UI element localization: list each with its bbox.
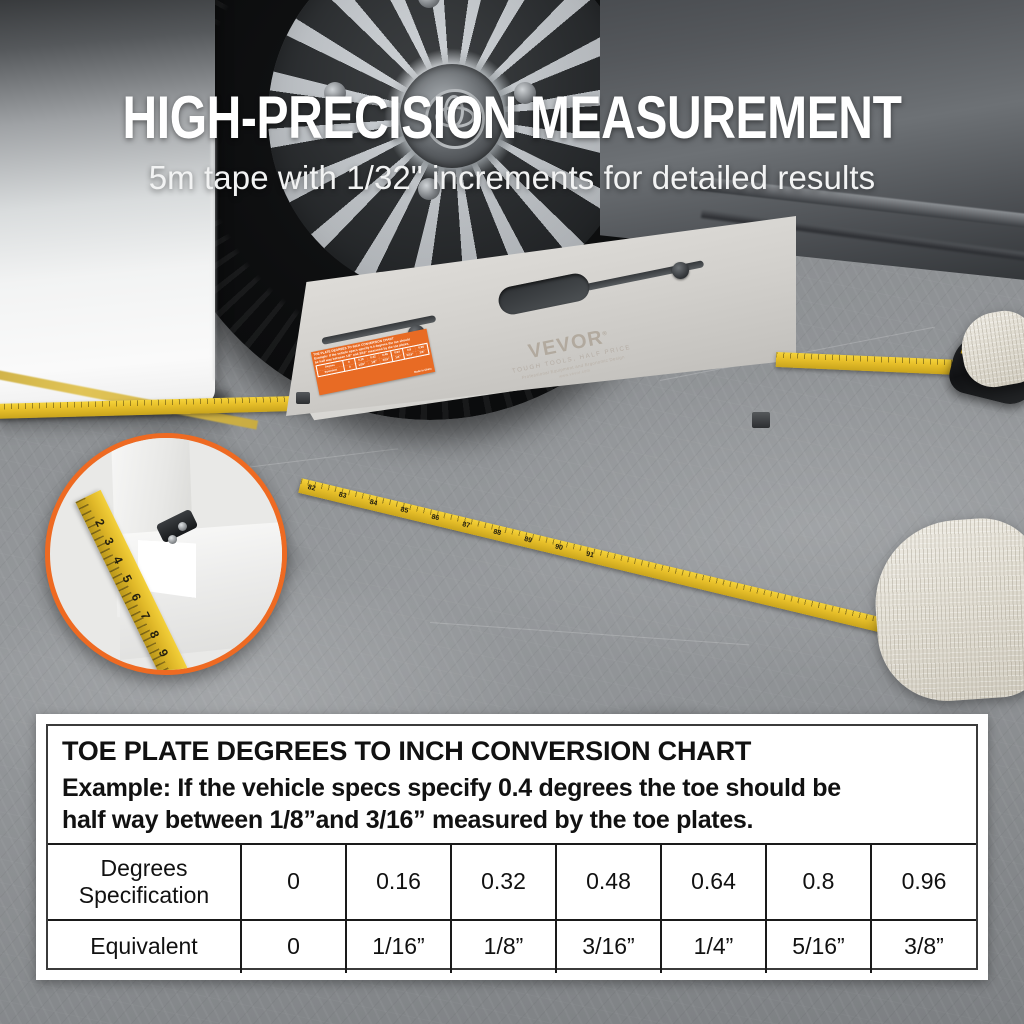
tape-number: 87 xyxy=(462,521,471,530)
cell-equivalent-3: 3/16” xyxy=(556,920,661,973)
cell-degrees-3: 0.48 xyxy=(556,844,661,920)
tape-number: 83 xyxy=(338,491,347,500)
inset-tape-rivet xyxy=(168,535,177,544)
cell-equivalent-5: 5/16” xyxy=(766,920,871,973)
conversion-table: Degrees Specification 0 0.16 0.32 0.48 0… xyxy=(48,843,976,973)
headline-title: HIGH-PRECISION MEASUREMENT xyxy=(102,88,921,148)
sticker-eq-6: 3/8” xyxy=(416,349,428,356)
sticker-eq-5: 5/16” xyxy=(404,352,416,359)
sticker-eq-4: 1/4” xyxy=(392,354,404,361)
table-row-equivalent: Equivalent 0 1/16” 1/8” 3/16” 1/4” 5/16”… xyxy=(48,920,976,973)
headline-block: HIGH-PRECISION MEASUREMENT 5m tape with … xyxy=(0,88,1024,196)
cell-degrees-6: 0.96 xyxy=(871,844,976,920)
example-line-2: half way between 1/8”and 3/16” measured … xyxy=(62,804,962,837)
cell-equivalent-4: 1/4” xyxy=(661,920,766,973)
conversion-chart-example: Example: If the vehicle specs specify 0.… xyxy=(62,772,962,837)
sticker-eq-1: 1/16” xyxy=(356,361,368,368)
sticker-origin: Made in China xyxy=(414,367,432,373)
toe-plate-tool: TOE PLATE DEGREES TO INCH CONVERSION CHA… xyxy=(286,216,796,448)
tape-number: 91 xyxy=(585,551,594,560)
sticker-eq-2: 1/8” xyxy=(368,359,380,366)
tape-number: 82 xyxy=(307,484,316,493)
brand-registered-icon: ® xyxy=(602,331,609,338)
cell-degrees-5: 0.8 xyxy=(766,844,871,920)
row-label-line-2: Specification xyxy=(54,882,234,909)
tape-number: 5 xyxy=(119,573,135,585)
conversion-chart-title: TOE PLATE DEGREES TO INCH CONVERSION CHA… xyxy=(62,736,962,768)
tape-number: 85 xyxy=(400,506,409,515)
detail-magnifier-inset: 2 3 4 5 6 7 8 9 xyxy=(45,433,287,675)
car-fender-panel xyxy=(0,0,215,410)
tape-number: 3 xyxy=(101,535,117,547)
tape-number: 6 xyxy=(128,591,144,603)
cell-equivalent-1: 1/16” xyxy=(346,920,451,973)
row-label-equivalent: Equivalent xyxy=(48,920,241,973)
headline-subtitle: 5m tape with 1/32" increments for detail… xyxy=(0,160,1024,196)
tape-number: 90 xyxy=(554,543,563,552)
table-row-degrees: Degrees Specification 0 0.16 0.32 0.48 0… xyxy=(48,844,976,920)
product-marketing-image: 96 xyxy=(0,0,1024,1024)
conversion-chart-border: TOE PLATE DEGREES TO INCH CONVERSION CHA… xyxy=(46,724,978,970)
toe-plate-thumbscrew-right xyxy=(672,262,689,279)
tape-number: 4 xyxy=(110,554,126,566)
tape-number: 8 xyxy=(147,628,163,640)
tape-number: 86 xyxy=(431,514,440,523)
cell-equivalent-2: 1/8” xyxy=(451,920,556,973)
conversion-chart-header: TOE PLATE DEGREES TO INCH CONVERSION CHA… xyxy=(48,726,976,843)
cell-equivalent-0: 0 xyxy=(241,920,346,973)
cell-degrees-1: 0.16 xyxy=(346,844,451,920)
tape-number: 88 xyxy=(492,529,501,538)
cell-equivalent-6: 3/8” xyxy=(871,920,976,973)
cell-degrees-4: 0.64 xyxy=(661,844,766,920)
example-line-1: Example: If the vehicle specs specify 0.… xyxy=(62,772,962,805)
cell-degrees-2: 0.32 xyxy=(451,844,556,920)
row-label-degrees-specification: Degrees Specification xyxy=(48,844,241,920)
toe-plate-foot xyxy=(296,392,310,404)
tape-number: 84 xyxy=(369,499,378,508)
sticker-eq-0: 0 xyxy=(344,364,356,371)
toe-plate-foot xyxy=(752,412,770,428)
tape-number: 7 xyxy=(138,610,154,622)
cell-degrees-0: 0 xyxy=(241,844,346,920)
sticker-eq-3: 3/16” xyxy=(380,356,392,363)
row-label-line-1: Degrees xyxy=(54,855,234,882)
conversion-chart-panel: TOE PLATE DEGREES TO INCH CONVERSION CHA… xyxy=(36,714,988,980)
tape-number: 89 xyxy=(523,536,532,545)
inset-tape-rivet xyxy=(178,522,187,531)
